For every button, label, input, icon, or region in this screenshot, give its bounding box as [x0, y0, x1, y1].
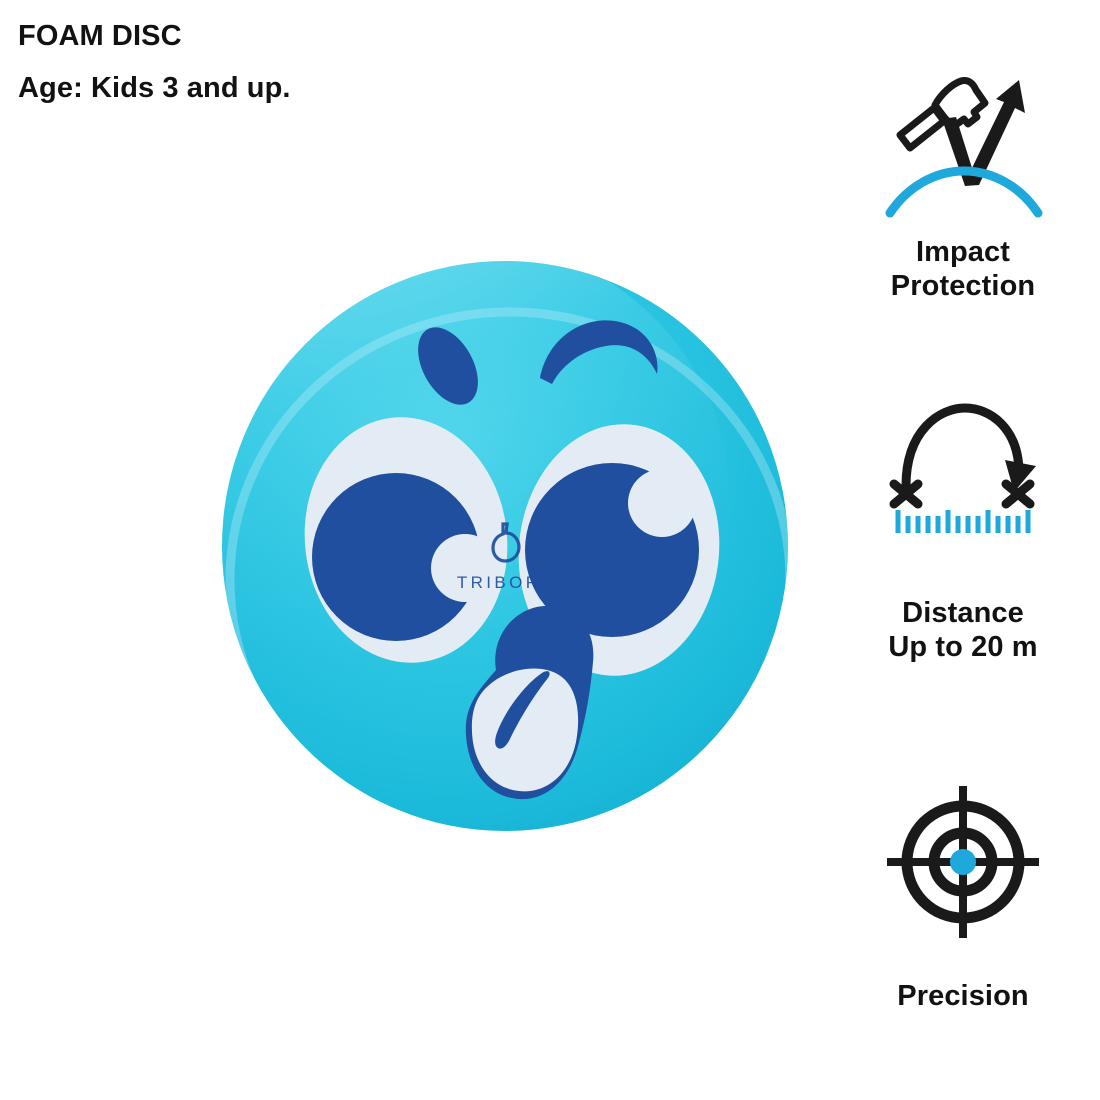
age-recommendation: Age: Kids 3 and up.: [18, 74, 658, 103]
feature-label-precision: Precision: [897, 980, 1028, 1014]
target-bullseye: [950, 849, 976, 875]
foam-disc-illustration: TRIBORD: [210, 250, 800, 850]
page-title: FOAM DISC: [18, 22, 658, 51]
product-image: TRIBORD: [210, 250, 800, 850]
crosshair-target-icon: [883, 782, 1043, 942]
heading-block: FOAM DISC Age: Kids 3 and up.: [18, 22, 658, 103]
feature-label-distance: Distance Up to 20 m: [888, 597, 1037, 664]
product-infographic-page: FOAM DISC Age: Kids 3 and up.: [0, 0, 1100, 1100]
trajectory-arc: [906, 408, 1019, 486]
eye-right-highlight: [628, 469, 696, 537]
feature-precision: Precision: [838, 782, 1088, 1014]
feature-label-impact-protection: Impact Protection: [891, 236, 1035, 303]
ruler-ticks: [898, 510, 1028, 533]
feature-icon-wrapper: [878, 402, 1048, 537]
feature-distance: Distance Up to 20 m: [838, 402, 1088, 664]
feature-icon-wrapper: [878, 72, 1048, 222]
hammer-bounce-icon: [878, 72, 1048, 222]
arc-ruler-icon: [878, 402, 1048, 537]
feature-list: Impact Protection: [838, 72, 1088, 1032]
feature-impact-protection: Impact Protection: [838, 72, 1088, 303]
brand-wordmark: TRIBORD: [457, 573, 557, 592]
feature-icon-wrapper: [883, 782, 1043, 942]
